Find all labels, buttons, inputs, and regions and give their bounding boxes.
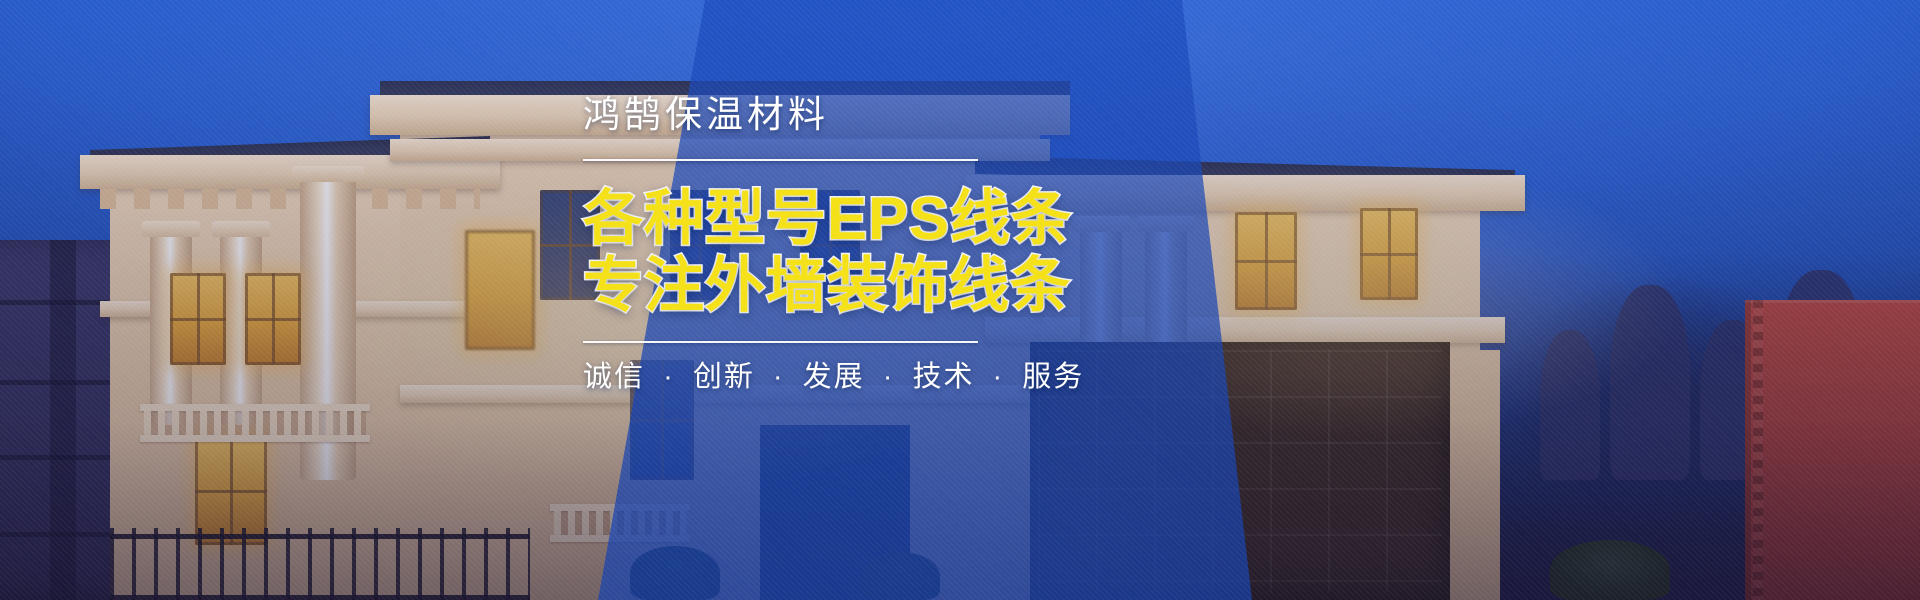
tagline: 诚信 · 创新 · 发展 · 技术 · 服务 — [583, 363, 1343, 392]
tagline-item-0: 诚信 — [583, 361, 645, 393]
divider-rule-top — [583, 159, 978, 161]
headline-line-1: 各种型号EPS线条 — [583, 185, 1343, 252]
headline-group: 各种型号EPS线条 专注外墙装饰线条 — [583, 185, 1343, 319]
promo-banner: 鸿鹄保温材料 各种型号EPS线条 专注外墙装饰线条 诚信 · 创新 · 发展 ·… — [0, 0, 1920, 600]
tagline-item-4: 服务 — [1022, 361, 1084, 393]
brand-name: 鸿鹄保温材料 — [583, 96, 1343, 133]
tagline-separator-0: · — [655, 361, 683, 393]
tagline-item-2: 发展 — [803, 361, 865, 393]
tagline-item-1: 创新 — [693, 361, 755, 393]
tagline-item-3: 技术 — [912, 361, 974, 393]
banner-copy-block: 鸿鹄保温材料 各种型号EPS线条 专注外墙装饰线条 诚信 · 创新 · 发展 ·… — [583, 96, 1343, 392]
tagline-separator-2: · — [875, 361, 903, 393]
headline-line-2: 专注外墙装饰线条 — [583, 252, 1343, 319]
tagline-separator-1: · — [765, 361, 793, 393]
tagline-separator-3: · — [985, 361, 1013, 393]
divider-rule-bottom — [583, 341, 978, 343]
